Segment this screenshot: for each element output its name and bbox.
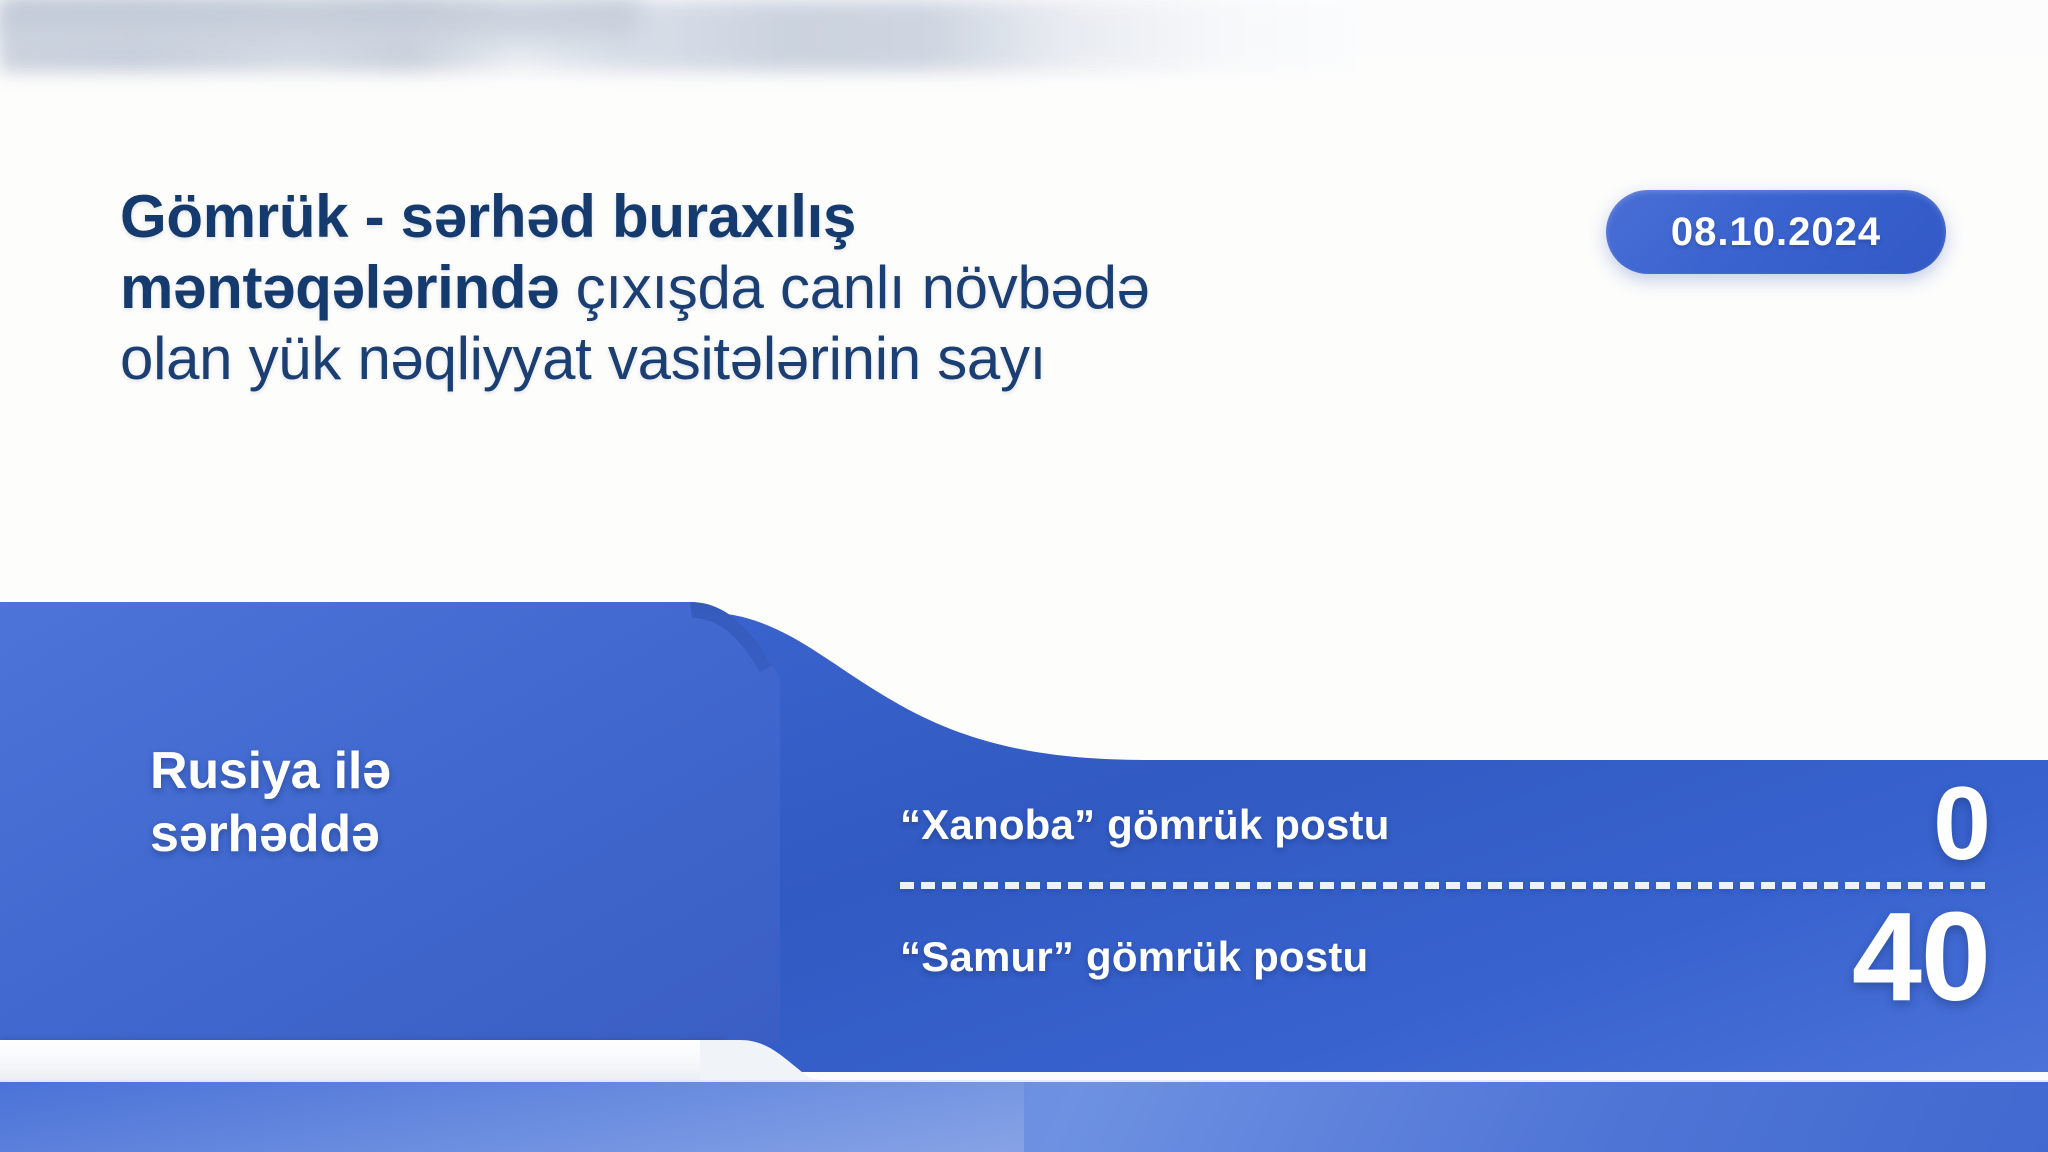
row-label: “Samur” gömrük postu <box>900 933 1368 981</box>
bottom-white-taper <box>700 1040 830 1082</box>
row-divider <box>900 882 1985 889</box>
date-badge-label: 08.10.2024 <box>1671 210 1881 255</box>
page-title: Gömrük - sərhəd buraxılış məntəqələrində… <box>120 182 1250 394</box>
data-rows: “Xanoba” gömrük postu 0 “Samur” gömrük p… <box>900 770 1990 1023</box>
table-row: “Xanoba” gömrük postu 0 <box>900 770 1990 880</box>
table-row: “Samur” gömrük postu 40 <box>900 891 1990 1023</box>
side-label-text: Rusiya ilə sərhəddə <box>150 742 391 863</box>
row-value: 0 <box>1933 778 1990 872</box>
row-value: 40 <box>1852 900 1990 1013</box>
date-badge: 08.10.2024 <box>1606 190 1946 274</box>
top-blur-strip-secondary <box>0 0 640 60</box>
infographic-slide: Gömrük - sərhəd buraxılış məntəqələrində… <box>0 0 2048 1152</box>
side-label: Rusiya ilə sərhəddə <box>150 740 620 867</box>
row-label: “Xanoba” gömrük postu <box>900 801 1390 849</box>
bottom-white-strip <box>0 1040 725 1082</box>
bottom-band-left <box>0 1082 1024 1152</box>
